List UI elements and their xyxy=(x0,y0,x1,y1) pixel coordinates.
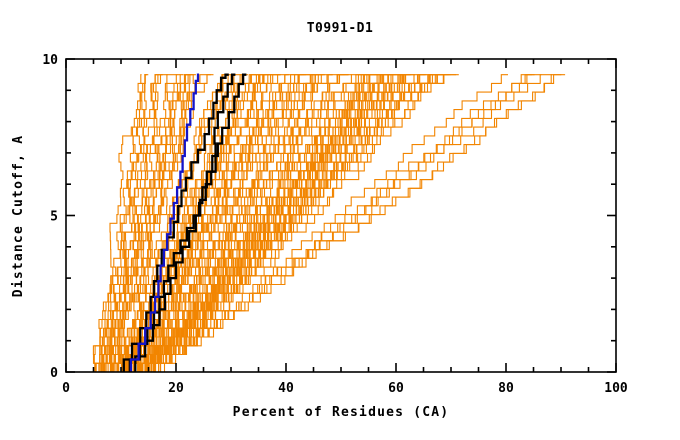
y-tick-label: 0 xyxy=(50,366,58,381)
y-tick-label: 5 xyxy=(50,210,58,225)
y-axis-label: Distance Cutoff, A xyxy=(11,135,26,297)
x-axis-label: Percent of Residues (CA) xyxy=(233,405,450,420)
x-tick-label: 80 xyxy=(498,381,514,396)
x-tick-label: 20 xyxy=(168,381,184,396)
x-tick-label: 0 xyxy=(62,381,70,396)
x-tick-label: 40 xyxy=(278,381,294,396)
x-tick-label: 60 xyxy=(388,381,404,396)
plot-background xyxy=(0,0,680,440)
x-tick-label: 100 xyxy=(604,381,628,396)
distance-cutoff-plot: T0991-D1 0204060801000510 Percent of Res… xyxy=(0,0,680,440)
page-title: T0991-D1 xyxy=(307,21,374,36)
y-tick-label: 10 xyxy=(42,53,58,68)
plot-root: T0991-D1 0204060801000510 Percent of Res… xyxy=(0,0,680,440)
